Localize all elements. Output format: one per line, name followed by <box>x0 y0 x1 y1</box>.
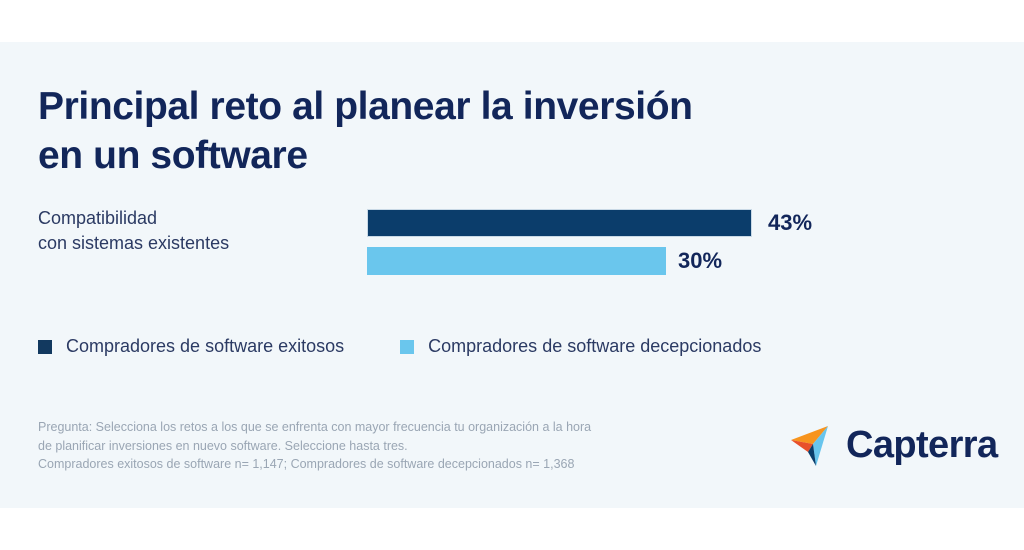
chart-legend: Compradores de software exitosos Comprad… <box>38 336 761 357</box>
bar-value-disappointed-buyers: 30% <box>678 247 722 275</box>
bar-value-successful-buyers: 43% <box>768 209 812 237</box>
bar-disappointed-buyers <box>367 247 666 275</box>
footnote-text: Pregunta: Selecciona los retos a los que… <box>38 418 718 474</box>
capterra-arrow-icon <box>788 420 838 470</box>
legend-label: Compradores de software decepcionados <box>428 336 761 357</box>
legend-swatch-icon <box>400 340 414 354</box>
bar-row: 30% <box>367 239 1007 282</box>
capterra-logo: Capterra <box>788 420 998 470</box>
category-label: Compatibilidad con sistemas existentes <box>38 206 358 256</box>
bar-chart: Compatibilidad con sistemas existentes 4… <box>0 196 1024 296</box>
page-title: Principal reto al planear la inversión e… <box>38 82 798 180</box>
bar-group: 43% 30% <box>367 196 1007 282</box>
capterra-wordmark: Capterra <box>846 426 998 464</box>
bar-row: 43% <box>367 196 1007 239</box>
bar-successful-buyers <box>367 209 752 237</box>
infographic-page: Principal reto al planear la inversión e… <box>0 0 1024 550</box>
legend-label: Compradores de software exitosos <box>66 336 344 357</box>
legend-item-successful-buyers: Compradores de software exitosos <box>38 336 344 357</box>
legend-item-disappointed-buyers: Compradores de software decepcionados <box>400 336 761 357</box>
legend-swatch-icon <box>38 340 52 354</box>
